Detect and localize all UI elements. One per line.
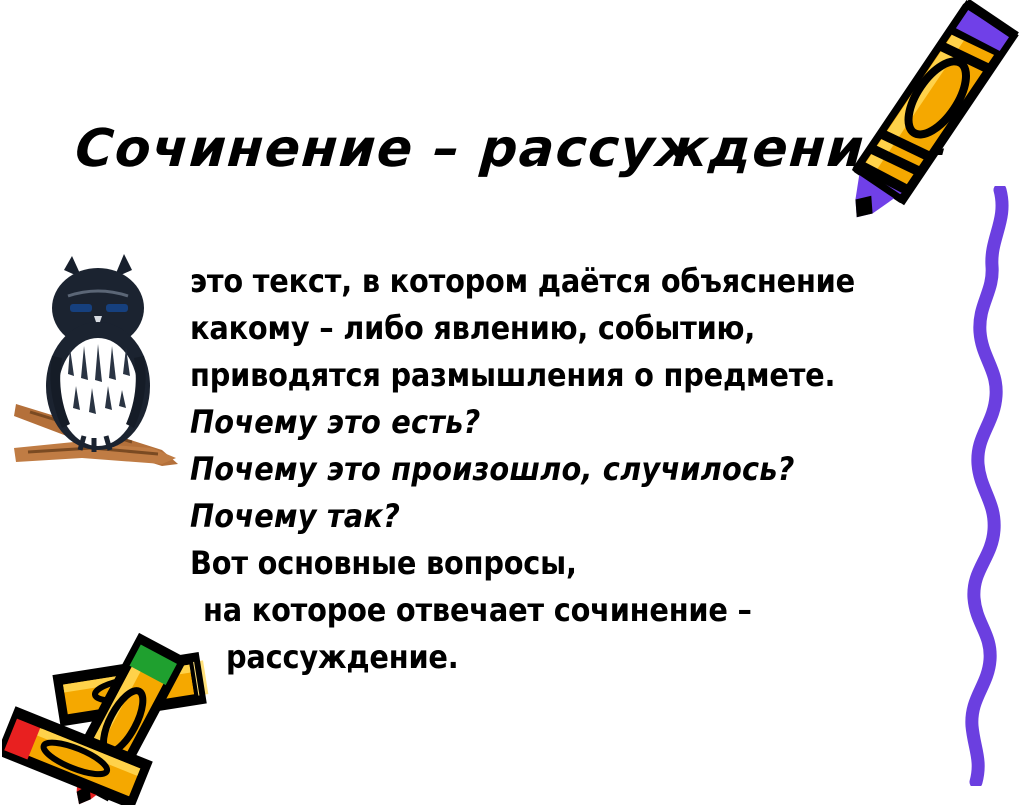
body-line: Почему это есть? [190, 399, 980, 446]
body-line: Почему так? [190, 493, 980, 540]
body-line: какому – либо явлению, событию, [190, 305, 980, 352]
slide-canvas: Сочинение – рассуждение – [0, 0, 1024, 805]
body-line: приводятся размышления о предмете. [190, 352, 980, 399]
body-text-block: это текст, в котором даётся объяснение к… [190, 258, 980, 681]
body-line: рассуждение. [190, 634, 980, 681]
page-title: Сочинение – рассуждение – [0, 122, 1024, 177]
body-line: это текст, в котором даётся объяснение [190, 258, 980, 305]
body-line: на которое отвечает сочинение – [190, 587, 980, 634]
body-line: Почему это произошло, случилось? [190, 446, 980, 493]
body-line: Вот основные вопросы, [190, 540, 980, 587]
owl-on-branch-illustration [12, 252, 182, 487]
